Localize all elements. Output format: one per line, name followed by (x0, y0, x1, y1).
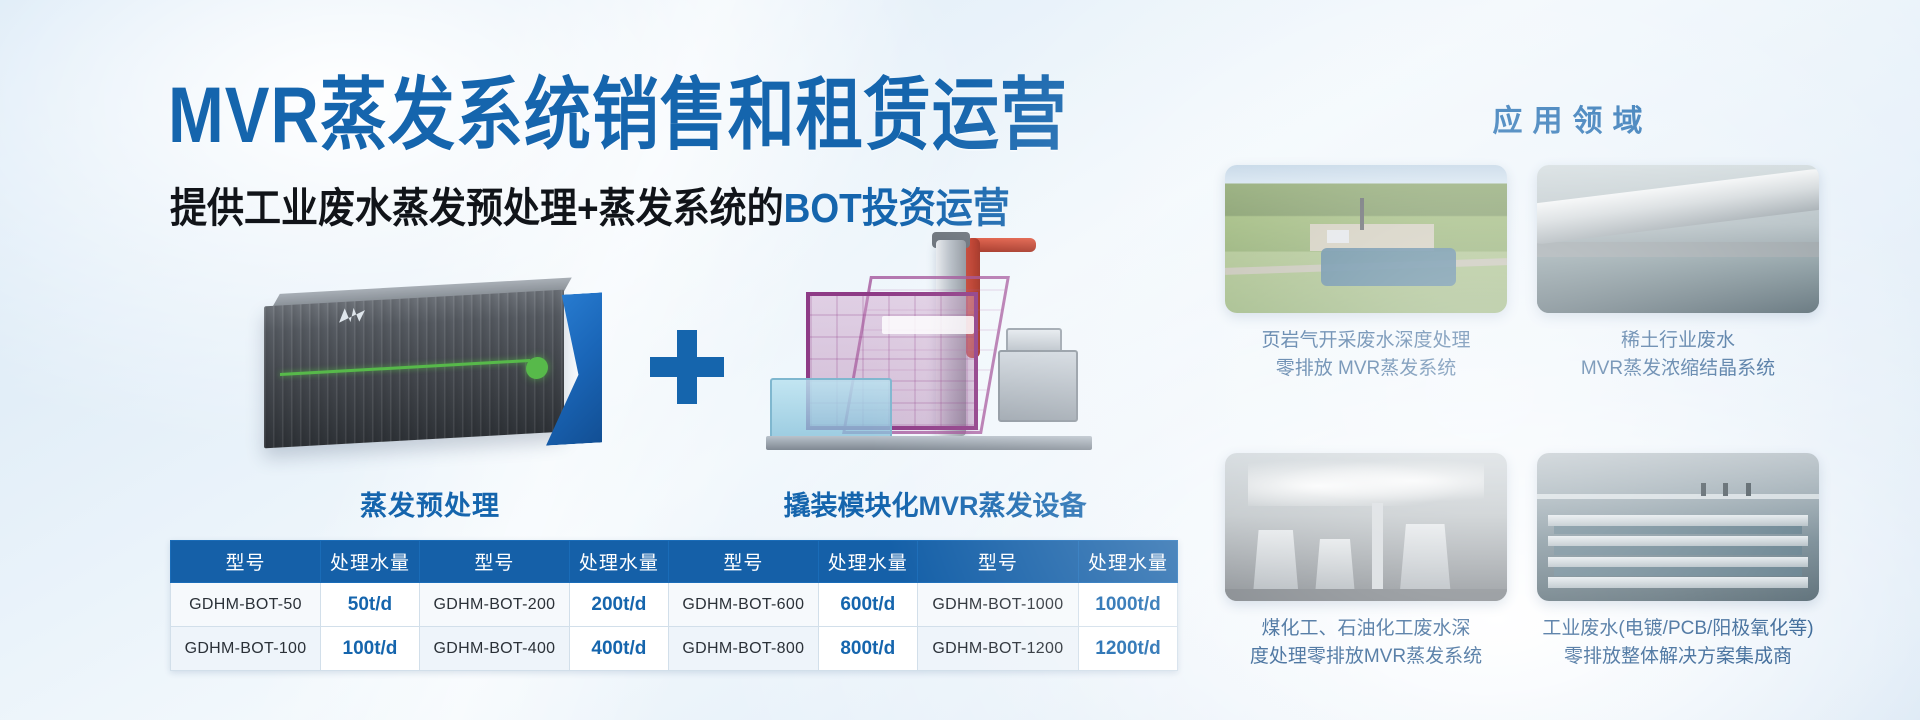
product-label-skid-mvr: 撬装模块化MVR蒸发设备 (740, 484, 1130, 523)
applications-column: 应用领域 页岩气开采废水深度处理 零排放 MVR蒸发系统 稀土行业废水 (1215, 0, 1920, 720)
table-cell-capacity: 400t/d (569, 627, 668, 671)
application-card-shale-gas[interactable]: 页岩气开采废水深度处理 零排放 MVR蒸发系统 (1225, 165, 1507, 382)
container-brand-logo (304, 305, 400, 340)
application-caption: 工业废水(电镀/PCB/阳极氧化等) 零排放整体解决方案集成商 (1537, 615, 1819, 670)
table-cell-model: GDHM-BOT-100 (171, 627, 321, 671)
skid-control-cabinet (998, 350, 1078, 422)
table-header-cell: 型号 (171, 541, 321, 583)
table-cell-model: GDHM-BOT-400 (419, 627, 569, 671)
table-cell-model: GDHM-BOT-800 (668, 627, 818, 671)
applications-title: 应用领域 (1215, 96, 1920, 140)
table-cell-model: GDHM-BOT-600 (668, 583, 818, 627)
table-header-cell: 处理水量 (1079, 541, 1178, 583)
table-cell-capacity: 200t/d (569, 583, 668, 627)
left-content-column: MVR蒸发系统销售和租赁运营 提供工业废水蒸发预处理+蒸发系统的BOT投资运营 … (0, 0, 1200, 720)
table-header-row: 型号 处理水量 型号 处理水量 型号 处理水量 型号 处理水量 (171, 541, 1178, 583)
table-header-cell: 处理水量 (818, 541, 917, 583)
table-row: GDHM-BOT-100 100t/d GDHM-BOT-400 400t/d … (171, 627, 1178, 671)
subtitle-prefix: 提供工业废水蒸发预处理+蒸发系统的 (170, 186, 784, 231)
caption-line-1: 工业废水(电镀/PCB/阳极氧化等) (1537, 615, 1819, 643)
application-card-industrial-wastewater[interactable]: 工业废水(电镀/PCB/阳极氧化等) 零排放整体解决方案集成商 (1537, 453, 1819, 670)
caption-line-1: 煤化工、石油化工废水深 (1225, 615, 1507, 643)
table-cell-model: GDHM-BOT-200 (419, 583, 569, 627)
product-image-skid-mvr (760, 232, 1110, 482)
caption-line-1: 页岩气开采废水深度处理 (1225, 327, 1507, 355)
promo-banner: MVR蒸发系统销售和租赁运营 提供工业废水蒸发预处理+蒸发系统的BOT投资运营 … (0, 0, 1920, 720)
caption-line-2: 度处理零排放MVR蒸发系统 (1225, 643, 1507, 671)
applications-grid: 页岩气开采废水深度处理 零排放 MVR蒸发系统 稀土行业废水 MVR蒸发浓缩结晶… (1225, 165, 1915, 695)
table-cell-capacity: 100t/d (321, 627, 420, 671)
page-subtitle: 提供工业废水蒸发预处理+蒸发系统的BOT投资运营 (170, 188, 1010, 229)
table-cell-model: GDHM-BOT-1000 (917, 583, 1078, 627)
skid-base-frame (766, 436, 1092, 450)
application-caption: 页岩气开采废水深度处理 零排放 MVR蒸发系统 (1225, 327, 1507, 382)
subtitle-highlight: BOT投资运营 (784, 186, 1010, 231)
product-label-evaporation-pretreatment: 蒸发预处理 (250, 484, 610, 523)
table-cell-capacity: 50t/d (321, 583, 420, 627)
plus-separator-icon (650, 330, 724, 404)
skid-brand-plate (882, 316, 974, 334)
table-cell-model: GDHM-BOT-50 (171, 583, 321, 627)
skid-mvr-illustration (760, 232, 1110, 482)
caption-line-1: 稀土行业废水 (1537, 327, 1819, 355)
caption-line-2: MVR蒸发浓缩结晶系统 (1537, 355, 1819, 383)
coal-chemical-plant-photo (1225, 453, 1507, 601)
brand-mark-icon (339, 307, 365, 322)
application-card-coal-chemical[interactable]: 煤化工、石油化工废水深 度处理零排放MVR蒸发系统 (1225, 453, 1507, 670)
skid-clear-tank (770, 378, 892, 440)
shale-gas-field-photo (1225, 165, 1507, 313)
table-header-cell: 处理水量 (569, 541, 668, 583)
caption-line-2: 零排放整体解决方案集成商 (1537, 643, 1819, 671)
application-caption: 煤化工、石油化工废水深 度处理零排放MVR蒸发系统 (1225, 615, 1507, 670)
application-card-rare-earth[interactable]: 稀土行业废水 MVR蒸发浓缩结晶系统 (1537, 165, 1819, 382)
table-header-cell: 型号 (917, 541, 1078, 583)
table-cell-capacity: 1200t/d (1079, 627, 1178, 671)
product-image-evaporation-pretreatment (250, 280, 610, 470)
rare-earth-pipeline-photo (1537, 165, 1819, 313)
table-header-cell: 型号 (419, 541, 569, 583)
spec-table: 型号 处理水量 型号 处理水量 型号 处理水量 型号 处理水量 GDHM-BOT… (170, 540, 1178, 671)
table-cell-model: GDHM-BOT-1200 (917, 627, 1078, 671)
table-cell-capacity: 800t/d (818, 627, 917, 671)
application-caption: 稀土行业废水 MVR蒸发浓缩结晶系统 (1537, 327, 1819, 382)
table-header-cell: 型号 (668, 541, 818, 583)
container-unit-illustration (250, 280, 610, 470)
table-cell-capacity: 1000t/d (1079, 583, 1178, 627)
caption-line-2: 零排放 MVR蒸发系统 (1225, 355, 1507, 383)
wastewater-treatment-tanks-photo (1537, 453, 1819, 601)
table-cell-capacity: 600t/d (818, 583, 917, 627)
table-row: GDHM-BOT-50 50t/d GDHM-BOT-200 200t/d GD… (171, 583, 1178, 627)
page-title: MVR蒸发系统销售和租赁运营 (168, 76, 1068, 155)
table-header-cell: 处理水量 (321, 541, 420, 583)
